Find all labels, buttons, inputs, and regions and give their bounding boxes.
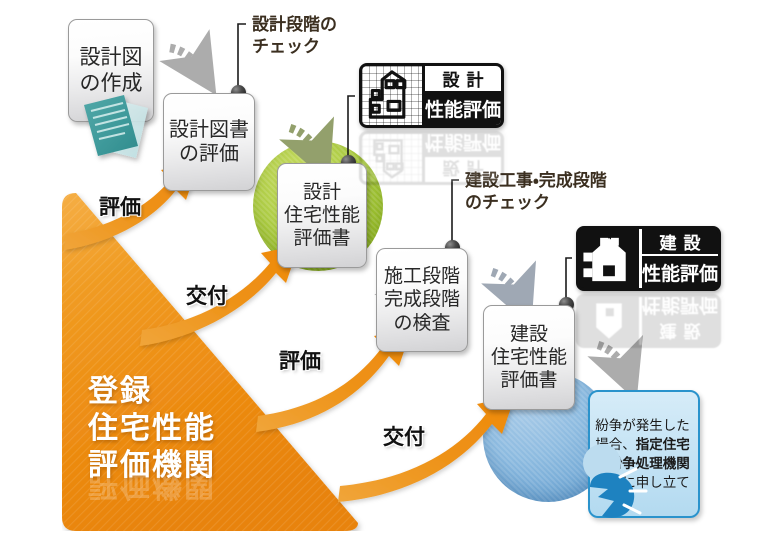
box-design-housing-performance-certificate[interactable]: 設計 住宅性能 評価書 <box>277 163 367 268</box>
annot-construction-line-2: のチェック <box>465 192 607 214</box>
construction-badge-reflection: 建設 性能評価 <box>576 294 721 348</box>
dispute-line-1: 紛争が発生した <box>595 416 690 435</box>
house-building-icon <box>579 229 639 288</box>
house-building-icon-reflection <box>579 297 639 345</box>
house-blueprint-icon-reflection <box>362 134 422 182</box>
flow-label-evaluation-construction: 評価 <box>279 345 321 375</box>
construction-badge-text: 建設 性能評価 <box>639 229 718 288</box>
box-drawing-line-1: 設計図 <box>69 45 153 71</box>
box-eval-docs-line-1: 設計図書 <box>164 118 254 142</box>
box-design-cert-line-2: 住宅性能 <box>278 204 366 227</box>
design-badge-text: 設計 性能評価 <box>422 66 501 125</box>
flow-label-issuance-design: 交付 <box>186 280 228 310</box>
design-badge-top-reflection: 設計 <box>425 157 501 182</box>
box-constr-cert-line-2: 住宅性能 <box>484 346 574 369</box>
design-badge-bottom-label: 性能評価 <box>425 91 501 125</box>
construction-performance-evaluation-badge: 建設 性能評価 <box>576 226 721 291</box>
house-blueprint-icon <box>362 66 422 125</box>
design-badge-bottom-reflection: 性能評価 <box>425 131 501 157</box>
box-design-document-evaluation[interactable]: 設計図書 の評価 <box>163 93 255 191</box>
box-inspection-line-2: 完成段階 <box>377 288 467 311</box>
design-badge-text-reflection: 設計 性能評価 <box>422 134 501 182</box>
box-design-cert-line-3: 評価書 <box>278 227 366 250</box>
box-design-cert-line-1: 設計 <box>278 181 366 204</box>
box-construction-housing-performance-certificate[interactable]: 建設 住宅性能 評価書 <box>483 305 575 410</box>
diagram-canvas: 登録 住宅性能 評価機関 評価機関 <box>0 0 770 538</box>
box-construction-completion-inspection[interactable]: 施工段階 完成段階 の検査 <box>376 248 468 352</box>
box-constr-cert-line-3: 評価書 <box>484 369 574 392</box>
annot-design-line-2: チェック <box>252 36 337 58</box>
construction-badge-top-reflection: 建設 <box>642 320 718 345</box>
annot-design-line-1: 設計段階の <box>252 14 337 36</box>
construction-badge-bottom-label: 性能評価 <box>642 256 718 288</box>
document-icon <box>68 92 154 170</box>
design-badge-top-label: 設計 <box>425 66 501 91</box>
box-inspection-line-1: 施工段階 <box>377 265 467 288</box>
box-eval-docs-line-2: の評価 <box>164 142 254 166</box>
annotation-design-stage-check: 設計段階の チェック <box>252 14 337 58</box>
dispute-burst-icon <box>574 443 648 521</box>
design-badge-reflection: 設計 性能評価 <box>359 131 504 185</box>
construction-badge-top-label: 建設 <box>642 229 718 256</box>
box-constr-cert-line-1: 建設 <box>484 323 574 346</box>
box-inspection-line-3: の検査 <box>377 312 467 335</box>
design-performance-evaluation-badge: 設計 性能評価 <box>359 63 504 128</box>
flow-label-evaluation-design: 評価 <box>99 191 141 221</box>
construction-badge-text-reflection: 建設 性能評価 <box>639 297 718 345</box>
flow-label-issuance-construction: 交付 <box>383 421 425 451</box>
construction-badge-bottom-reflection: 性能評価 <box>642 294 718 320</box>
